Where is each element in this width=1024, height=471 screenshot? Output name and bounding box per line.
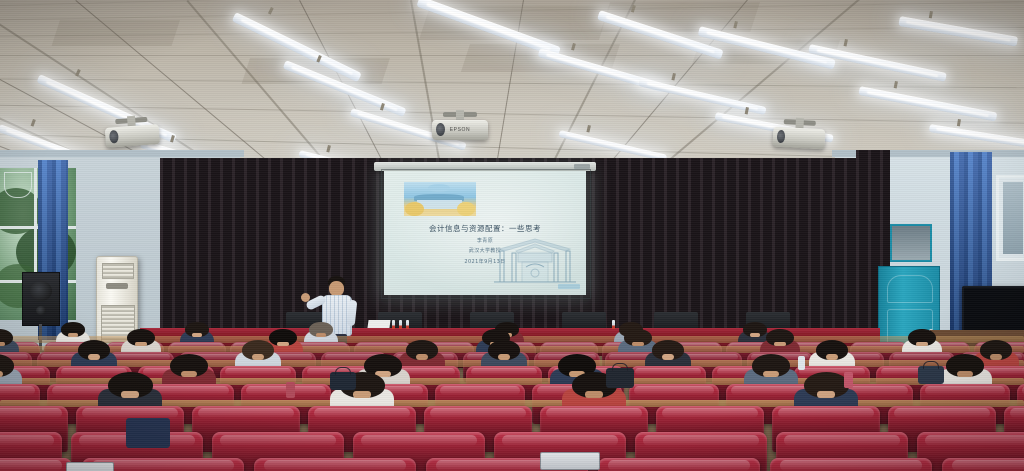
audience-neck <box>750 333 760 337</box>
seat-highlight <box>0 408 62 418</box>
audience-neck <box>0 342 5 347</box>
seat-highlight <box>430 408 525 418</box>
projector-center: EPSON <box>432 110 488 144</box>
right-window-glass <box>1003 182 1023 254</box>
handbag <box>330 372 356 390</box>
seat-highlight <box>634 386 713 395</box>
seat-highlight <box>925 435 1024 446</box>
bag-handle <box>923 361 939 369</box>
seat-highlight <box>784 435 900 446</box>
foliage-accent <box>428 184 450 192</box>
seat-highlight <box>471 368 538 375</box>
light-suspension-stem <box>956 119 960 126</box>
audience-neck <box>990 354 1003 359</box>
seat-highlight <box>894 408 989 418</box>
audience-neck <box>957 371 972 377</box>
water-bottle-row <box>798 356 805 370</box>
seat-highlight <box>264 460 407 471</box>
seat-highlight <box>925 386 1004 395</box>
laptop-screen <box>540 452 600 470</box>
seat-highlight <box>440 386 519 395</box>
seat-highlight <box>314 408 409 418</box>
seat-highlight <box>225 368 292 375</box>
slide-footer-badge <box>558 284 580 289</box>
auditorium-seat[interactable] <box>942 458 1024 471</box>
bag-handle <box>335 367 351 375</box>
audience-neck <box>88 354 101 359</box>
audience-neck <box>416 354 429 359</box>
audience-neck <box>181 371 196 377</box>
audience-neck <box>498 354 511 359</box>
audience-neck <box>916 342 927 347</box>
audience-neck <box>585 391 603 398</box>
handbag <box>606 368 634 388</box>
ac-top-vent <box>102 263 134 279</box>
speaker-driver <box>30 281 52 301</box>
seat-highlight <box>220 435 336 446</box>
auditorium-seat[interactable] <box>254 458 416 471</box>
audience-neck <box>121 391 139 398</box>
ac-control-panel <box>106 283 128 289</box>
seat-highlight <box>502 435 618 446</box>
seat-highlight <box>82 408 177 418</box>
wall-trim-left <box>0 150 244 157</box>
audience-neck <box>192 333 202 337</box>
right-window <box>996 175 1024 261</box>
auditorium-seat[interactable] <box>770 458 932 471</box>
door-transom-window <box>890 224 932 262</box>
table-papers <box>367 320 390 328</box>
projector-right <box>772 117 826 154</box>
thermos-cup <box>286 382 295 398</box>
seat-highlight <box>635 368 702 375</box>
audience-neck <box>774 342 785 347</box>
audience-neck <box>252 354 265 359</box>
seat-highlight <box>198 408 293 418</box>
seat-highlight <box>546 408 641 418</box>
slide-campus-photo <box>404 182 476 216</box>
loudspeaker <box>22 272 60 326</box>
projector-left <box>104 114 160 152</box>
audience-neck <box>316 333 326 337</box>
auditorium-seat[interactable] <box>598 458 760 471</box>
audience-neck <box>817 391 835 398</box>
seat-highlight <box>780 460 923 471</box>
presentation-slide: 会计信息与资源配置：一些思考 李青原 武汉大学教授 2021年9月13日 <box>386 173 584 291</box>
seat-highlight <box>662 408 757 418</box>
auditorium-seat[interactable] <box>0 458 72 471</box>
bag-handle <box>612 363 629 371</box>
audience-neck <box>353 391 371 398</box>
lecturer-right-arm <box>347 300 358 327</box>
seat-highlight <box>361 435 477 446</box>
audience-neck <box>662 354 675 359</box>
audience-neck <box>0 371 3 377</box>
seat-highlight <box>149 386 228 395</box>
door-panel-top <box>887 275 933 303</box>
seat-highlight <box>0 460 62 471</box>
audience-neck <box>277 342 288 347</box>
projector-brand-label: EPSON <box>432 127 488 133</box>
laptop-screen <box>66 462 114 471</box>
lecturer-hand <box>301 293 310 302</box>
foliage-accent <box>405 202 424 216</box>
thermos-cup <box>844 372 853 388</box>
seat-highlight <box>1010 408 1024 418</box>
audience-neck <box>632 342 643 347</box>
water-bottle <box>392 320 395 329</box>
seat-highlight <box>643 435 759 446</box>
seat-highlight <box>778 408 873 418</box>
seat-highlight <box>0 435 54 446</box>
lecturer-head <box>329 281 344 296</box>
audience-neck <box>826 354 839 359</box>
audience-neck <box>135 342 146 347</box>
audience-neck <box>68 333 78 337</box>
speaker-tweeter <box>36 306 46 315</box>
seat-highlight <box>0 386 35 395</box>
foliage-accent <box>457 202 474 216</box>
university-archway-illustration <box>492 227 578 285</box>
window-security-grill <box>4 172 32 198</box>
ceiling-tile-patch <box>52 20 180 46</box>
water-bottle <box>612 320 615 329</box>
audience-neck <box>763 371 778 377</box>
auditorium-photo: EPSON <box>0 0 1024 471</box>
water-bottle <box>406 320 409 329</box>
water-bottle <box>399 320 402 329</box>
seat-highlight <box>952 460 1024 471</box>
backpack <box>126 418 170 448</box>
seat-highlight <box>608 460 751 471</box>
handbag <box>918 366 944 384</box>
